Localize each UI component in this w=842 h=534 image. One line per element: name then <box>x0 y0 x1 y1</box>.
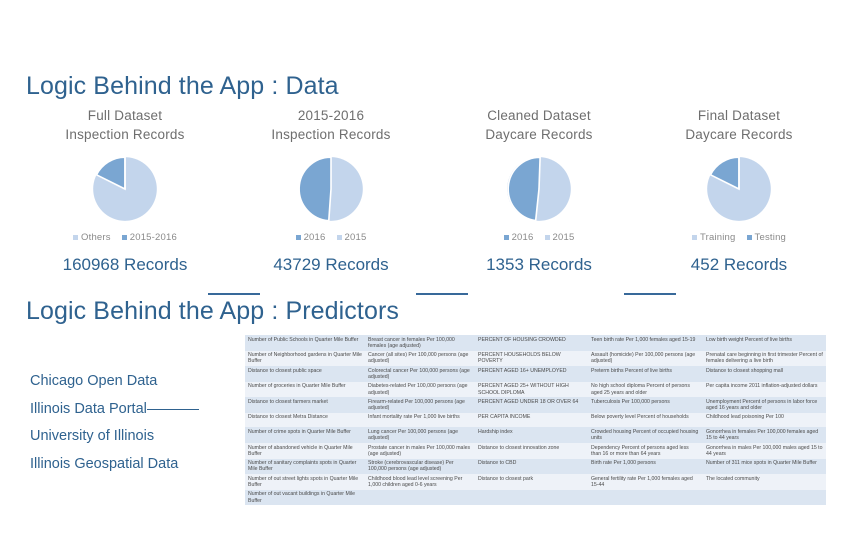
pipeline-connector <box>416 293 468 295</box>
panel-caption-line2: Inspection Records <box>236 125 426 144</box>
records-count-cleaned: 1353 Records <box>444 255 634 275</box>
table-cell: Number of crime spots in Quarter Mile Bu… <box>245 427 365 443</box>
pie-legend: 2016 2015 <box>236 232 426 243</box>
table-cell: Number of abandoned vehicle in Quarter M… <box>245 443 365 459</box>
underline-decoration <box>147 409 199 410</box>
table-row: Distance to closest farmers market Firea… <box>245 397 826 413</box>
table-cell: Distance to closest farmers market <box>245 397 365 413</box>
table-cell: PERCENT HOUSEHOLDS BELOW POVERTY <box>475 351 588 367</box>
dataset-panel-full: Full Dataset Inspection Records Others 2… <box>30 106 220 243</box>
pie-slice-2016 <box>299 157 331 221</box>
panel-caption-line1: Cleaned Dataset <box>444 106 634 125</box>
page-title-data: Logic Behind the App : Data <box>26 72 339 101</box>
legend-swatch-icon <box>122 235 127 240</box>
table-cell: Per capita income 2011 inflation-adjuste… <box>703 382 826 398</box>
legend-label: Others <box>81 232 111 243</box>
table-row: Number of Neighborhood gardens in Quarte… <box>245 351 826 367</box>
table-cell <box>475 490 588 506</box>
table-row: Distance to closest public space Colorec… <box>245 366 826 382</box>
table-cell: Distance to closest park <box>475 474 588 490</box>
table-cell: Number of sanitary complaints spots in Q… <box>245 459 365 475</box>
dataset-panel-2015-2016: 2015-2016 Inspection Records 2016 2015 <box>236 106 426 243</box>
data-source-label: Illinois Data Portal <box>30 401 147 417</box>
table-row: Number of Public Schools in Quarter Mile… <box>245 335 826 351</box>
panel-caption-line2: Daycare Records <box>444 125 634 144</box>
data-source-item: Illinois Geospatial Data <box>30 451 240 479</box>
data-sources-list: Chicago Open Data Illinois Data Portal U… <box>30 368 240 478</box>
table-cell: Number of out street lights spots in Qua… <box>245 474 365 490</box>
records-count-final: 452 Records <box>644 255 834 275</box>
table-row: Number of out street lights spots in Qua… <box>245 474 826 490</box>
table-cell: Childhood lead poisoning Per 100 <box>703 413 826 428</box>
table-cell: Number of out vacant buildings in Quarte… <box>245 490 365 506</box>
legend-swatch-icon <box>73 235 78 240</box>
legend-label: 2015 <box>553 232 575 243</box>
pie-svg <box>294 152 368 226</box>
data-source-label: Illinois Geospatial Data <box>30 456 178 472</box>
table-cell: Gonorrhea in females Per 100,000 females… <box>703 427 826 443</box>
data-source-item: Illinois Data Portal <box>30 396 240 424</box>
data-source-item: Chicago Open Data <box>30 368 240 396</box>
legend-label: 2015 <box>345 232 367 243</box>
legend-swatch-icon <box>747 235 752 240</box>
table-cell: Stroke (cerebrovascular disease) Per 100… <box>365 459 475 475</box>
pie-legend: 2016 2015 <box>444 232 634 243</box>
legend-swatch-icon <box>337 235 342 240</box>
pie-svg <box>88 152 162 226</box>
predictors-table-body: Number of Public Schools in Quarter Mile… <box>245 335 826 505</box>
table-cell: No high school diploma Percent of person… <box>588 382 703 398</box>
table-cell: The located community <box>703 474 826 490</box>
legend-entry: 2016 <box>296 232 326 243</box>
data-source-item: University of Illinois <box>30 423 240 451</box>
predictors-table: Number of Public Schools in Quarter Mile… <box>245 335 826 505</box>
legend-label: 2016 <box>304 232 326 243</box>
table-cell: Firearm-related Per 100,000 persons (age… <box>365 397 475 413</box>
legend-label: 2015-2016 <box>130 232 177 243</box>
panel-caption-line2: Inspection Records <box>30 125 220 144</box>
table-cell: Distance to closest shopping mall <box>703 366 826 382</box>
table-cell <box>588 490 703 506</box>
legend-swatch-icon <box>296 235 301 240</box>
table-cell: Dependency Percent of persons aged less … <box>588 443 703 459</box>
table-cell: Birth rate Per 1,000 persons <box>588 459 703 475</box>
panel-caption-line1: Full Dataset <box>30 106 220 125</box>
pie-chart-2015-2016 <box>236 152 426 226</box>
legend-swatch-icon <box>692 235 697 240</box>
table-cell: Teen birth rate Per 1,000 females aged 1… <box>588 335 703 351</box>
pie-slice-2016 <box>508 157 540 220</box>
table-cell: Unemployment Percent of persons in labor… <box>703 397 826 413</box>
table-cell: Number of Public Schools in Quarter Mile… <box>245 335 365 351</box>
legend-label: Testing <box>755 232 787 243</box>
table-cell: PER CAPITA INCOME <box>475 413 588 428</box>
table-cell: Low birth weight Percent of live births <box>703 335 826 351</box>
table-row: Distance to closest Metra Distance Infan… <box>245 413 826 428</box>
table-cell: Lung cancer Per 100,000 persons (age adj… <box>365 427 475 443</box>
table-cell: Number of Neighborhood gardens in Quarte… <box>245 351 365 367</box>
table-cell: Tuberculosis Per 100,000 persons <box>588 397 703 413</box>
dataset-panel-cleaned: Cleaned Dataset Daycare Records 2016 201… <box>444 106 634 243</box>
panel-caption-line2: Daycare Records <box>644 125 834 144</box>
pie-legend: Others 2015-2016 <box>30 232 220 243</box>
legend-entry: 2015 <box>337 232 367 243</box>
table-cell: Number of groceries in Quarter Mile Buff… <box>245 382 365 398</box>
legend-entry: Testing <box>747 232 787 243</box>
legend-entry: Training <box>692 232 736 243</box>
data-source-label: Chicago Open Data <box>30 373 157 389</box>
table-cell: PERCENT AGED 16+ UNEMPLOYED <box>475 366 588 382</box>
table-cell: Preterm births Percent of live births <box>588 366 703 382</box>
table-cell: Hardship index <box>475 427 588 443</box>
panel-caption-line1: 2015-2016 <box>236 106 426 125</box>
records-row: 160968 Records 43729 Records 1353 Record… <box>24 255 824 281</box>
pipeline-connector <box>208 293 260 295</box>
table-cell: Gonorrhea in males Per 100,000 males age… <box>703 443 826 459</box>
table-cell: Distance to CBD <box>475 459 588 475</box>
table-cell: Prostate cancer in males Per 100,000 mal… <box>365 443 475 459</box>
pie-svg <box>702 152 776 226</box>
panel-caption: Final Dataset Daycare Records <box>644 106 834 144</box>
table-cell: Number of 311 mice spots in Quarter Mile… <box>703 459 826 475</box>
panel-caption: Full Dataset Inspection Records <box>30 106 220 144</box>
table-cell <box>365 490 475 506</box>
pie-chart-final <box>644 152 834 226</box>
page-title-predictors: Logic Behind the App : Predictors <box>26 297 399 326</box>
table-cell: Colorectal cancer Per 100,000 persons (a… <box>365 366 475 382</box>
pipeline-connector <box>624 293 676 295</box>
data-source-label: University of Illinois <box>30 428 154 444</box>
table-cell: Below poverty level Percent of household… <box>588 413 703 428</box>
legend-label: 2016 <box>512 232 534 243</box>
table-cell: Breast cancer in females Per 100,000 fem… <box>365 335 475 351</box>
table-cell: Childhood blood lead level screening Per… <box>365 474 475 490</box>
legend-label: Training <box>700 232 736 243</box>
table-cell: PERCENT AGED UNDER 18 OR OVER 64 <box>475 397 588 413</box>
table-cell: PERCENT AGED 25+ WITHOUT HIGH SCHOOL DIP… <box>475 382 588 398</box>
legend-swatch-icon <box>545 235 550 240</box>
panel-caption-line1: Final Dataset <box>644 106 834 125</box>
panel-caption: 2015-2016 Inspection Records <box>236 106 426 144</box>
pie-chart-full <box>30 152 220 226</box>
table-cell: Distance to closest public space <box>245 366 365 382</box>
table-row: Number of abandoned vehicle in Quarter M… <box>245 443 826 459</box>
records-count-2015-2016: 43729 Records <box>236 255 426 275</box>
dataset-panel-final: Final Dataset Daycare Records Training T… <box>644 106 834 243</box>
legend-entry: 2016 <box>504 232 534 243</box>
table-cell: General fertility rate Per 1,000 females… <box>588 474 703 490</box>
table-cell: Diabetes-related Per 100,000 persons (ag… <box>365 382 475 398</box>
legend-entry: Others <box>73 232 111 243</box>
legend-entry: 2015-2016 <box>122 232 177 243</box>
table-cell: Assault (homicide) Per 100,000 persons (… <box>588 351 703 367</box>
pie-svg <box>502 152 576 226</box>
table-cell: Cancer (all sites) Per 100,000 persons (… <box>365 351 475 367</box>
records-count-full: 160968 Records <box>30 255 220 275</box>
legend-entry: 2015 <box>545 232 575 243</box>
table-row: Number of crime spots in Quarter Mile Bu… <box>245 427 826 443</box>
panel-caption: Cleaned Dataset Daycare Records <box>444 106 634 144</box>
table-cell: Infant mortality rate Per 1,000 live bir… <box>365 413 475 428</box>
table-cell: PERCENT OF HOUSING CROWDED <box>475 335 588 351</box>
table-cell: Distance to closest Metra Distance <box>245 413 365 428</box>
pie-legend: Training Testing <box>644 232 834 243</box>
table-row: Number of groceries in Quarter Mile Buff… <box>245 382 826 398</box>
pie-chart-cleaned <box>444 152 634 226</box>
table-row: Number of out vacant buildings in Quarte… <box>245 490 826 506</box>
table-row: Number of sanitary complaints spots in Q… <box>245 459 826 475</box>
table-cell <box>703 490 826 506</box>
table-cell: Distance to closest innovation zone <box>475 443 588 459</box>
table-cell: Prenatal care beginning in first trimest… <box>703 351 826 367</box>
table-cell: Crowded housing Percent of occupied hous… <box>588 427 703 443</box>
legend-swatch-icon <box>504 235 509 240</box>
